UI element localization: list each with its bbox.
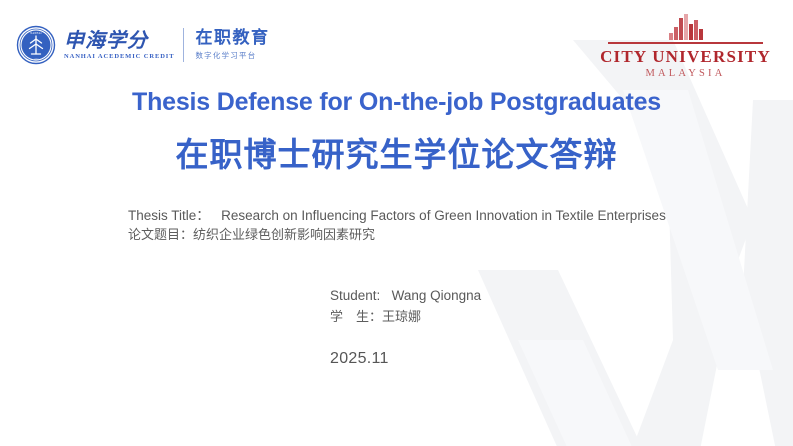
thesis-title-english-line: Thesis Title： Research on Influencing Fa… xyxy=(128,205,698,226)
nanhai-brand-lockup: NANHAI 1958 申海学分 NANHAI ACEDEMIC CREDIT … xyxy=(16,21,269,69)
student-label: Student: xyxy=(330,288,380,303)
city-university-rule xyxy=(608,42,763,44)
svg-text:NANHAI: NANHAI xyxy=(30,32,41,35)
nanhai-brand-en: NANHAI ACEDEMIC CREDIT xyxy=(64,54,174,61)
student-block: Student: Wang Qiongna 学 生：王琼娜 xyxy=(330,285,481,328)
nanhai-brand-cn: 申海学分 xyxy=(64,30,174,50)
city-university-country: MALAYSIA xyxy=(645,69,725,80)
city-university-logo: CITY UNIVERSITY MALAYSIA xyxy=(608,14,763,79)
student-chinese-line: 学 生：王琼娜 xyxy=(330,307,481,328)
brand-divider xyxy=(183,28,184,62)
student-name: Wang Qiongna xyxy=(392,288,482,303)
education-brand-desc: 数字化学习平台 xyxy=(195,52,269,60)
slide-title-english: Thesis Defense for On-the-job Postgradua… xyxy=(0,88,793,117)
thesis-title-value: Research on Influencing Factors of Green… xyxy=(221,208,666,223)
student-english-line: Student: Wang Qiongna xyxy=(330,285,481,307)
city-university-name: CITY UNIVERSITY xyxy=(600,47,771,67)
thesis-title-label: Thesis Title： xyxy=(128,208,210,223)
thesis-title-block: Thesis Title： Research on Influencing Fa… xyxy=(128,205,698,247)
nanhai-brand-text: 申海学分 NANHAI ACEDEMIC CREDIT xyxy=(64,23,174,67)
city-university-building-icon xyxy=(669,14,703,40)
presentation-date: 2025.11 xyxy=(330,350,389,368)
slide-title-chinese: 在职博士研究生学位论文答辩 xyxy=(0,128,793,176)
svg-text:1958: 1958 xyxy=(33,59,39,62)
presentation-slide: NANHAI 1958 申海学分 NANHAI ACEDEMIC CREDIT … xyxy=(0,0,793,446)
nanhai-emblem-icon: NANHAI 1958 xyxy=(16,25,56,65)
education-brand-cn: 在职教育 xyxy=(195,30,269,47)
education-brand-text: 在职教育 数字化学习平台 xyxy=(195,23,269,67)
thesis-title-chinese-line: 论文题目：纺织企业绿色创新影响因素研究 xyxy=(128,226,698,247)
